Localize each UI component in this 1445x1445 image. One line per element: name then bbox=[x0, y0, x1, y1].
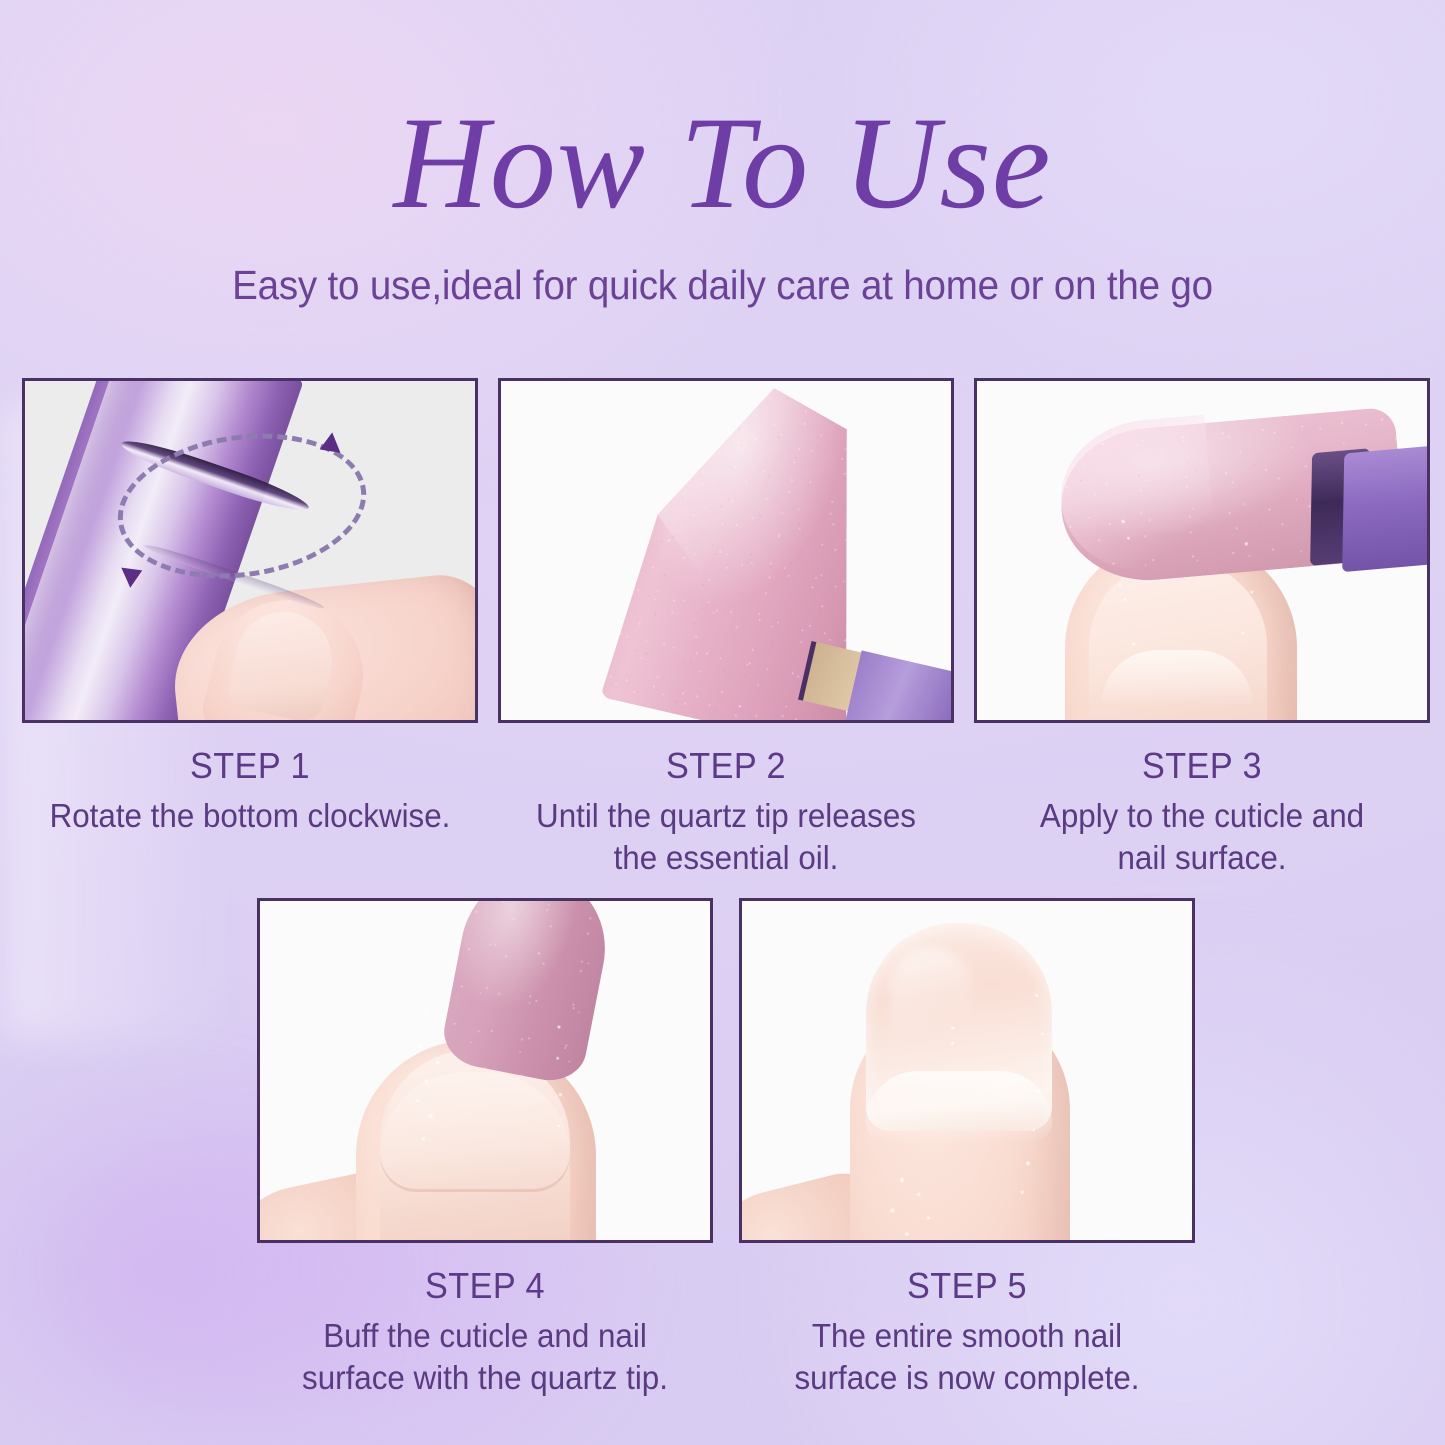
steps-row-top: STEP 1 Rotate the bottom clockwise. STEP… bbox=[22, 378, 1430, 878]
step-5-description: The entire smooth nail surface is now co… bbox=[750, 1315, 1183, 1398]
step-card-1: STEP 1 Rotate the bottom clockwise. bbox=[22, 378, 478, 878]
step-4-title: STEP 4 bbox=[268, 1265, 701, 1307]
step-5-photo bbox=[739, 898, 1195, 1243]
step-4-photo bbox=[257, 898, 713, 1243]
nail-sparkle bbox=[942, 1021, 964, 1057]
step-card-3: STEP 3 Apply to the cuticle and nail sur… bbox=[974, 378, 1430, 878]
step-4-description: Buff the cuticle and nail surface with t… bbox=[268, 1315, 701, 1398]
step-5-title: STEP 5 bbox=[750, 1265, 1183, 1307]
step-3-photo bbox=[974, 378, 1430, 723]
step-3-title: STEP 3 bbox=[985, 745, 1418, 787]
page-title: How To Use bbox=[0, 96, 1445, 231]
step-card-4: STEP 4 Buff the cuticle and nail surface… bbox=[257, 898, 713, 1398]
step-card-5: STEP 5 The entire smooth nail surface is… bbox=[739, 898, 1195, 1398]
step-3-description: Apply to the cuticle and nail surface. bbox=[985, 795, 1418, 878]
oil-droplets-bottom bbox=[866, 1162, 986, 1243]
step-2-title: STEP 2 bbox=[509, 745, 942, 787]
oil-droplets bbox=[396, 998, 468, 1188]
step-1-photo bbox=[22, 378, 478, 723]
step-2-description: Until the quartz tip releases the essent… bbox=[509, 795, 942, 878]
step-1-title: STEP 1 bbox=[33, 745, 466, 787]
pen-body bbox=[1342, 444, 1430, 572]
page-subtitle: Easy to use,ideal for quick daily care a… bbox=[43, 262, 1401, 309]
step-2-photo bbox=[498, 378, 954, 723]
oil-droplets bbox=[1095, 488, 1271, 674]
step-card-2: STEP 2 Until the quartz tip releases the… bbox=[498, 378, 954, 878]
step-1-description: Rotate the bottom clockwise. bbox=[33, 795, 466, 837]
steps-row-bottom: STEP 4 Buff the cuticle and nail surface… bbox=[257, 898, 1195, 1398]
oil-droplets-right bbox=[546, 1014, 572, 1144]
oil-droplets-right bbox=[992, 981, 1064, 1221]
how-to-use-page: How To Use Easy to use,ideal for quick d… bbox=[0, 0, 1445, 1445]
